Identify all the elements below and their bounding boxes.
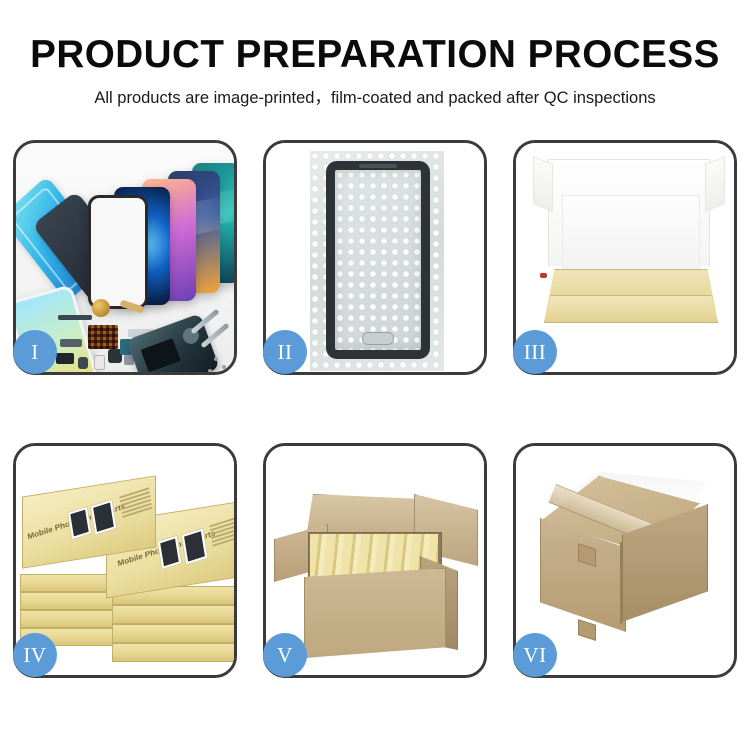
page-title: PRODUCT PREPARATION PROCESS <box>4 33 747 77</box>
product-preparation-infographic: PRODUCT PREPARATION PROCESS All products… <box>0 0 750 750</box>
step-badge-6: VI <box>513 633 557 677</box>
carton-front-panel-icon <box>304 568 446 658</box>
retail-box-edge <box>112 624 234 643</box>
retail-box-edge <box>112 605 234 624</box>
part-strip-icon <box>58 315 92 320</box>
process-step-grid: I II III <box>13 140 737 678</box>
home-button-icon <box>362 332 394 345</box>
page-subtitle: All products are image-printed，film-coat… <box>0 84 750 108</box>
step-badge-4: IV <box>13 633 57 677</box>
phone-glass-panel-icon <box>88 195 148 309</box>
carton-tab-icon <box>578 619 596 641</box>
wrapped-screen-icon <box>326 161 430 359</box>
step-badge-5: V <box>263 633 307 677</box>
step-badge-1: I <box>13 330 57 374</box>
chip-grid-icon <box>88 325 118 349</box>
part-button-icon <box>78 357 88 369</box>
part-camera-icon <box>56 353 74 364</box>
screw-icon <box>214 357 218 361</box>
process-step-panel-6: VI <box>513 443 737 678</box>
earpiece-speaker-icon <box>359 164 397 168</box>
process-step-panel-3: III <box>513 140 737 375</box>
process-step-panel-4: Mobile Phone Spare Parts Mobile Phone Sp… <box>13 443 237 678</box>
process-step-panel-2: II <box>263 140 487 375</box>
carton-corner-seam-icon <box>620 542 622 624</box>
red-label-dot-icon <box>540 273 547 278</box>
coin-part-icon <box>92 299 110 317</box>
foam-padding-icon <box>562 195 700 275</box>
screw-icon <box>222 365 226 369</box>
screw-icon <box>208 369 212 372</box>
retail-box-edge <box>112 643 234 662</box>
kraft-box-front-icon <box>544 295 718 323</box>
part-sim-tray-icon <box>94 355 105 370</box>
step-badge-3: III <box>513 330 557 374</box>
process-step-panel-1: I <box>13 140 237 375</box>
step-badge-2: II <box>263 330 307 374</box>
process-step-panel-5: V <box>263 443 487 678</box>
part-connector-icon <box>60 339 82 347</box>
